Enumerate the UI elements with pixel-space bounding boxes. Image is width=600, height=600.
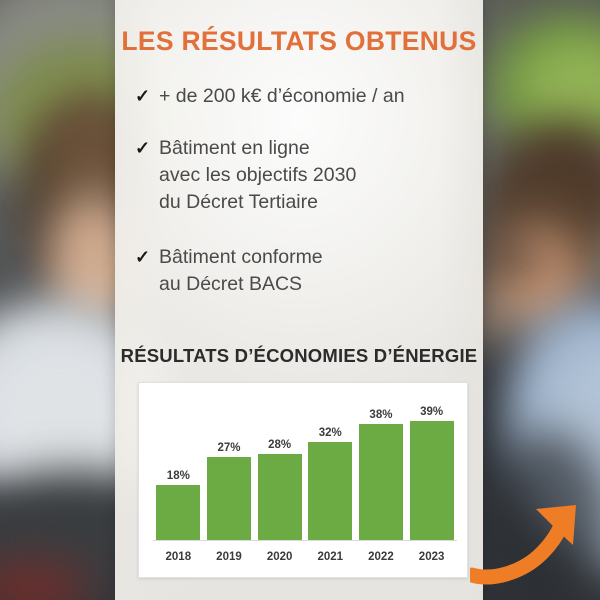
list-item-text: + de 200 k€ d’économie / an	[159, 83, 405, 110]
list-item-line: avec les objectifs 2030	[159, 162, 356, 189]
bar-value-label: 28%	[258, 439, 302, 451]
bar	[308, 442, 352, 540]
benefits-list: ✓ + de 200 k€ d’économie / an ✓ Bâtiment…	[135, 83, 469, 323]
curved-arrow-up-right-icon	[470, 495, 600, 600]
list-item-line: + de 200 k€ d’économie / an	[159, 83, 405, 110]
bar	[207, 457, 251, 540]
bar-value-label: 18%	[156, 470, 200, 482]
check-icon: ✓	[135, 244, 159, 270]
bar-value-label: 27%	[207, 442, 251, 454]
chart-bars: 18% 27% 28% 32%	[153, 393, 457, 540]
bar	[359, 424, 403, 540]
bar-chart: 18% 27% 28% 32%	[138, 382, 468, 578]
chart-baseline	[153, 540, 457, 541]
bar	[156, 485, 200, 540]
bar-group: 39%	[410, 393, 454, 540]
bar	[410, 421, 454, 540]
list-item: ✓ Bâtiment en ligne avec les objectifs 2…	[135, 135, 469, 216]
bar	[258, 454, 302, 540]
check-icon: ✓	[135, 83, 159, 109]
list-item-line: du Décret Tertiaire	[159, 189, 356, 216]
x-tick-label: 2018	[156, 551, 200, 563]
bar-value-label: 38%	[359, 409, 403, 421]
chart-x-axis-labels: 2018 2019 2020 2021 2022 2023	[153, 545, 457, 569]
bar-value-label: 39%	[410, 406, 454, 418]
chart-heading: RÉSULTATS D’ÉCONOMIES D’ÉNERGIE	[115, 345, 483, 367]
list-item: ✓ + de 200 k€ d’économie / an	[135, 83, 469, 110]
bar-group: 27%	[207, 393, 251, 540]
bar-value-label: 32%	[308, 427, 352, 439]
list-item-text: Bâtiment en ligne avec les objectifs 203…	[159, 135, 356, 216]
poster-canvas: LES RÉSULTATS OBTENUS ✓ + de 200 k€ d’éc…	[0, 0, 600, 600]
x-tick-label: 2022	[359, 551, 403, 563]
list-item-line: Bâtiment en ligne	[159, 135, 356, 162]
content-panel: LES RÉSULTATS OBTENUS ✓ + de 200 k€ d’éc…	[115, 0, 483, 600]
check-icon: ✓	[135, 135, 159, 161]
list-item-line: au Décret BACS	[159, 271, 323, 298]
x-tick-label: 2021	[308, 551, 352, 563]
list-item: ✓ Bâtiment conforme au Décret BACS	[135, 244, 469, 298]
bar-group: 18%	[156, 393, 200, 540]
bar-group: 32%	[308, 393, 352, 540]
bar-group: 28%	[258, 393, 302, 540]
x-tick-label: 2023	[410, 551, 454, 563]
chart-plot-area: 18% 27% 28% 32%	[149, 393, 459, 541]
list-item-line: Bâtiment conforme	[159, 244, 323, 271]
list-item-text: Bâtiment conforme au Décret BACS	[159, 244, 323, 298]
x-tick-label: 2020	[258, 551, 302, 563]
bar-group: 38%	[359, 393, 403, 540]
page-title: LES RÉSULTATS OBTENUS	[115, 26, 483, 57]
x-tick-label: 2019	[207, 551, 251, 563]
